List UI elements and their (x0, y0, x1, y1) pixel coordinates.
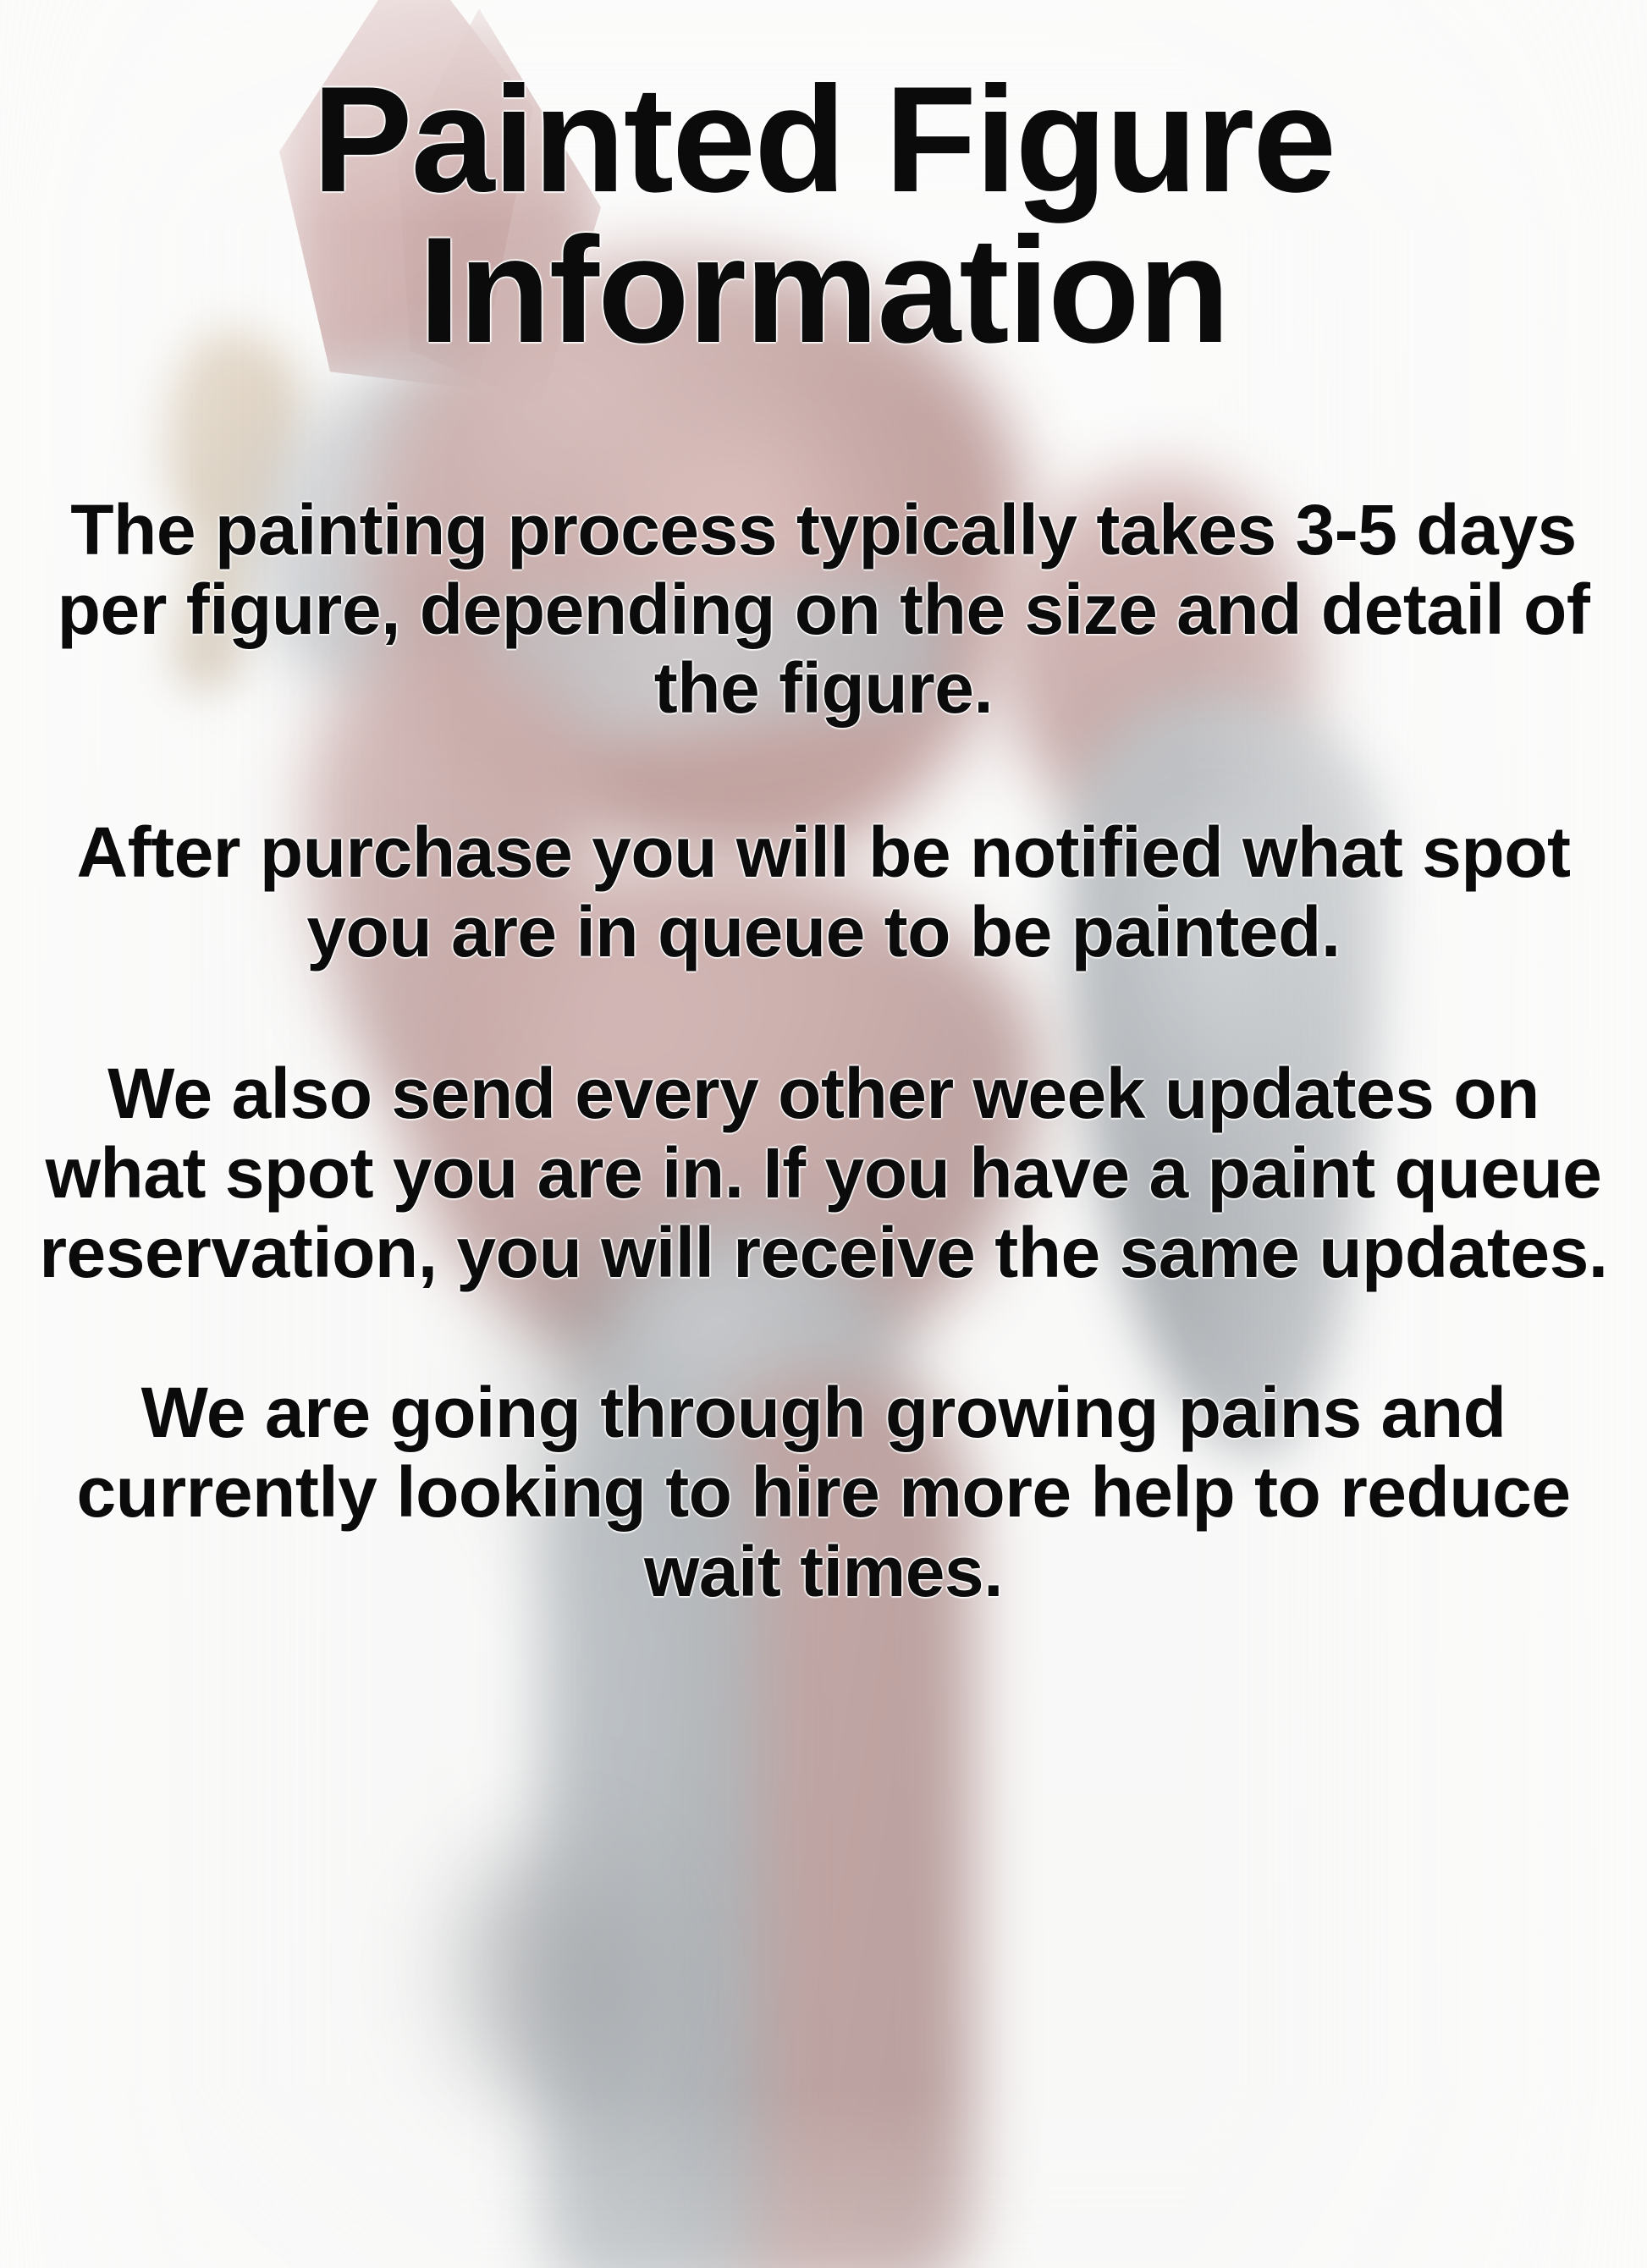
figure-lower-shadow-blob (398, 1794, 719, 2150)
paragraph-painting-duration: The painting process typically takes 3-5… (29, 491, 1618, 729)
page-title-line-1: Painted Figure (29, 64, 1618, 215)
paragraph-biweekly-updates: We also send every other week updates on… (29, 1054, 1618, 1292)
paragraph-queue-notification: After purchase you will be notified what… (29, 813, 1618, 972)
page-title-line-2: Information (29, 215, 1618, 366)
paragraph-growing-pains: We are going through growing pains and c… (29, 1373, 1618, 1611)
painted-figure-information-poster: Painted Figure Information The painting … (0, 0, 1647, 2268)
poster-content: Painted Figure Information The painting … (0, 0, 1647, 1611)
page-title: Painted Figure Information (29, 0, 1618, 366)
